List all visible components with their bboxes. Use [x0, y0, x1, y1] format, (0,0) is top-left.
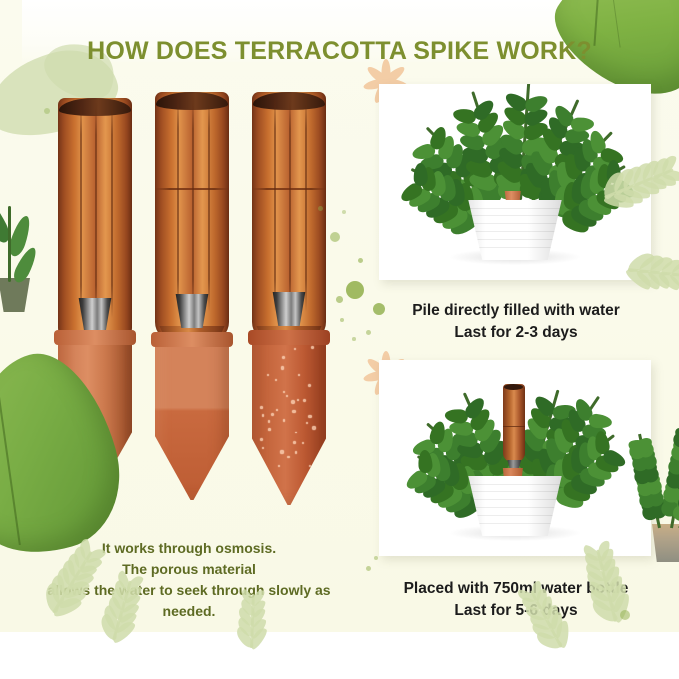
water-droplet	[282, 356, 285, 359]
paint-splatter-dot	[318, 206, 323, 211]
water-droplet	[311, 346, 314, 349]
water-droplet	[297, 399, 299, 401]
leaf-vein	[0, 381, 21, 544]
panel-top-caption: Pile directly filled with water Last for…	[366, 300, 666, 345]
bottle-vertical-seam	[208, 96, 210, 312]
bottle-seam-ring	[503, 426, 525, 428]
watercolor-pot	[648, 524, 679, 562]
water-droplet	[283, 391, 285, 393]
water-droplet	[295, 451, 298, 454]
bottle-vertical-seam	[274, 96, 276, 312]
paint-splatter-dot	[330, 232, 340, 242]
paint-splatter-dot	[342, 210, 346, 214]
bottle-vertical-seam	[80, 102, 82, 318]
water-droplet	[295, 432, 297, 434]
paint-splatter-dot	[374, 556, 378, 560]
water-droplet	[292, 410, 295, 413]
paint-splatter-dot	[366, 330, 371, 335]
terracotta-spike-2	[155, 92, 229, 522]
water-droplet	[283, 419, 286, 422]
page-title: HOW DOES TERRACOTTA SPIKE WORK?	[0, 37, 679, 66]
bottle-vertical-seam	[95, 102, 97, 318]
panel-bottom-photo	[379, 360, 651, 556]
water-droplet	[312, 426, 315, 429]
pot-rib	[469, 223, 560, 224]
pot-rib	[469, 499, 560, 500]
water-droplet	[276, 409, 278, 411]
water-droplet	[278, 465, 280, 467]
paint-splatter-dot	[44, 108, 50, 114]
water-droplet	[267, 374, 269, 376]
paint-splatter-dot	[346, 281, 364, 299]
paint-splatter-dot	[336, 296, 343, 303]
water-droplet	[302, 442, 305, 445]
cone-collar-1	[54, 330, 135, 345]
pot-rib	[469, 515, 560, 516]
infographic-canvas: HOW DOES TERRACOTTA SPIKE WORK? It works…	[0, 0, 679, 679]
plant-leaf	[589, 413, 613, 429]
bottle-vertical-seam	[192, 96, 194, 312]
pot-rib	[469, 215, 560, 216]
paint-splatter-dot	[352, 337, 356, 341]
pot-rib	[469, 247, 560, 248]
mini-pot	[0, 278, 34, 312]
plant-leaf	[570, 116, 594, 131]
pot-rib	[469, 523, 560, 524]
water-droplet	[287, 456, 289, 458]
bottle-vertical-seam	[305, 96, 307, 312]
water-droplet	[294, 348, 296, 350]
water-droplet	[262, 414, 265, 417]
water-droplet	[291, 400, 295, 404]
pot-rib	[469, 208, 560, 209]
pot-rib	[469, 507, 560, 508]
cone-collar-3	[248, 330, 329, 345]
water-droplet	[280, 450, 283, 453]
paint-splatter-dot	[373, 303, 385, 315]
water-droplet	[262, 447, 264, 449]
panel-top-caption-line-2: Last for 2-3 days	[366, 322, 666, 344]
water-droplet	[281, 366, 284, 369]
water-droplet	[308, 384, 311, 387]
bottle-open-end	[504, 384, 523, 390]
pot-rib	[469, 239, 560, 240]
water-droplet	[271, 413, 274, 416]
water-droplet	[286, 395, 288, 397]
zz-plant-watercolor-decoration	[630, 398, 679, 568]
pot-rib	[469, 491, 560, 492]
panel-top-caption-line-1: Pile directly filled with water	[366, 300, 666, 322]
water-droplet	[268, 420, 271, 423]
background-white-footer	[0, 632, 679, 679]
pot-rib	[469, 231, 560, 232]
terracotta-spike-3	[252, 92, 326, 522]
water-droplet	[268, 428, 271, 431]
bottle-vertical-seam	[289, 96, 291, 312]
pot-rib	[469, 484, 560, 485]
water-droplet	[275, 379, 277, 381]
water-droplet	[306, 422, 309, 425]
paint-splatter-dot	[358, 258, 363, 263]
terracotta-cone-3	[252, 330, 326, 505]
paint-splatter-dot	[366, 566, 371, 571]
water-droplet	[260, 406, 263, 409]
water-droplet	[293, 441, 296, 444]
cone-collar-2	[151, 332, 232, 347]
water-droplet	[309, 465, 311, 467]
bottle-vertical-seam	[177, 96, 179, 312]
inverted-bottle-spike	[503, 384, 525, 462]
terracotta-cone-2	[155, 332, 229, 500]
plant-leaf	[413, 163, 428, 187]
paint-splatter-dot	[620, 610, 630, 620]
paint-splatter-dot	[340, 318, 344, 322]
water-droplet	[308, 415, 312, 419]
water-droplet	[260, 438, 263, 441]
water-droplet	[298, 374, 300, 376]
bottle-vertical-seam	[111, 102, 113, 318]
water-droplet	[303, 399, 306, 402]
